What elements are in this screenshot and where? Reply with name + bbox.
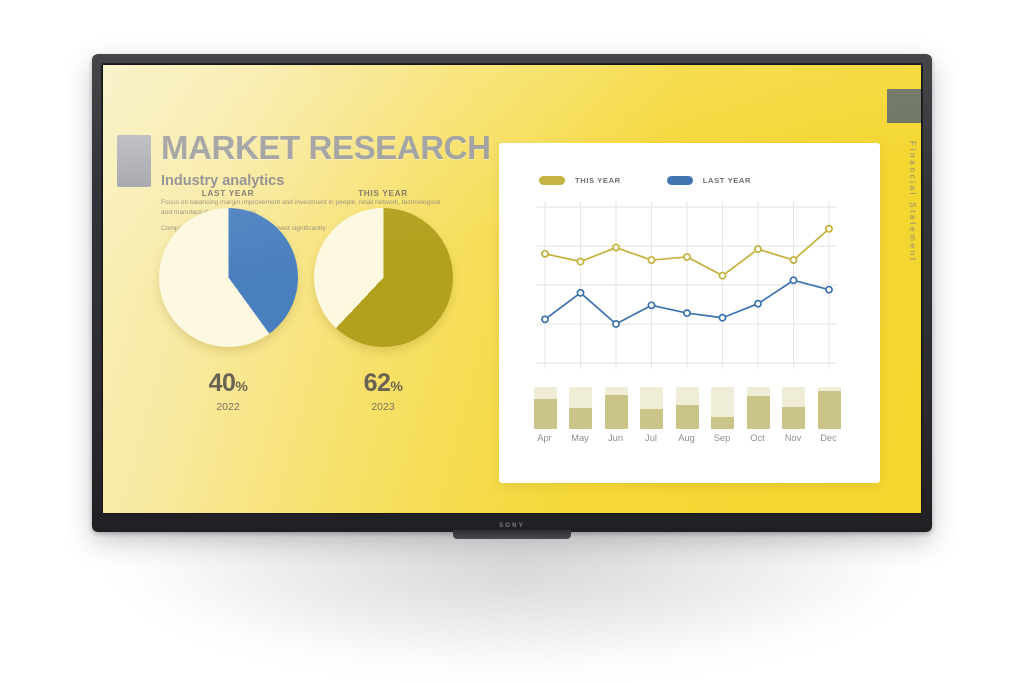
pie-chart-last-year [159, 208, 298, 347]
bar-track [711, 387, 734, 429]
bar-track [747, 387, 770, 429]
bar-track [818, 387, 841, 429]
bar-track [569, 387, 592, 429]
data-point [542, 251, 548, 257]
monitor-stand-neck [453, 530, 571, 539]
bar-track [605, 387, 628, 429]
data-point [790, 277, 796, 283]
bar-track [782, 387, 805, 429]
bar-fill [747, 396, 770, 429]
device-brand: SONY [92, 523, 932, 529]
legend-swatch-icon [539, 176, 565, 185]
legend-item-1[interactable]: THIS YEAR [539, 176, 621, 185]
data-point [790, 257, 796, 263]
data-point [613, 244, 619, 250]
x-axis-label: Dec [812, 433, 846, 443]
chart-card: THIS YEARLAST YEAR AprMayJunJulAugSepOct… [499, 143, 880, 483]
data-point [755, 301, 761, 307]
percent-symbol: % [235, 378, 247, 394]
pie-year-this-year: 2023 [308, 401, 458, 413]
floor-shadow [120, 520, 910, 670]
pie-block-last-year: LAST YEAR 40% 2022 [153, 189, 303, 413]
line-chart-plot [537, 201, 837, 369]
data-point [755, 246, 761, 252]
pie-percent-this-year: 62% [308, 369, 458, 398]
x-axis-label: Nov [776, 433, 810, 443]
x-axis-label: Sep [705, 433, 739, 443]
bar-fill [818, 391, 841, 429]
pie-percent-last-year: 40% [153, 369, 303, 398]
data-point [826, 287, 832, 293]
data-point [648, 257, 654, 263]
x-axis-labels: AprMayJunJulAugSepOctNovDec [537, 433, 837, 451]
pie-percent-value: 62 [364, 369, 391, 397]
legend-swatch-icon [667, 176, 693, 185]
rail-label: Financial Statement [895, 141, 917, 263]
legend-label: LAST YEAR [703, 176, 751, 185]
pie-caption-last-year: LAST YEAR [153, 189, 303, 198]
data-point [613, 321, 619, 327]
x-axis-label: Oct [741, 433, 775, 443]
pie-chart-group: LAST YEAR 40% 2022 THIS YEAR 62% 2023 [153, 189, 483, 479]
bar-fill [640, 409, 663, 429]
pie-percent-value: 40 [209, 369, 236, 397]
chart-legend: THIS YEARLAST YEAR [539, 176, 751, 185]
presentation-slide: MARKET RESEARCH Industry analytics Focus… [103, 65, 921, 513]
bar-fill [534, 399, 557, 429]
percent-symbol: % [390, 378, 402, 394]
data-point [577, 259, 583, 265]
x-axis-label: Jul [634, 433, 668, 443]
bar-track [676, 387, 699, 429]
legend-label: THIS YEAR [575, 176, 621, 185]
data-point [719, 315, 725, 321]
monitor-screen: MARKET RESEARCH Industry analytics Focus… [103, 65, 921, 513]
rail-accent-box [887, 89, 921, 123]
pie-caption-this-year: THIS YEAR [308, 189, 458, 198]
bar-strip [537, 379, 837, 429]
monitor-frame: MARKET RESEARCH Industry analytics Focus… [92, 54, 932, 532]
bar-track [534, 387, 557, 429]
data-point [684, 310, 690, 316]
x-axis-label: Aug [670, 433, 704, 443]
title-accent-square [117, 135, 151, 187]
data-point [577, 290, 583, 296]
pie-chart-this-year [314, 208, 453, 347]
pie-year-last-year: 2022 [153, 401, 303, 413]
data-point [684, 254, 690, 260]
data-point [826, 226, 832, 232]
bar-fill [711, 417, 734, 429]
pie-block-this-year: THIS YEAR 62% 2023 [308, 189, 458, 413]
legend-item-2[interactable]: LAST YEAR [667, 176, 751, 185]
line-chart-svg [537, 201, 837, 369]
bar-fill [782, 407, 805, 429]
x-axis-label: May [563, 433, 597, 443]
x-axis-label: Jun [599, 433, 633, 443]
bar-fill [605, 395, 628, 429]
bar-fill [569, 408, 592, 429]
data-point [719, 273, 725, 279]
data-point [648, 302, 654, 308]
bar-fill [676, 405, 699, 429]
data-point [542, 316, 548, 322]
x-axis-label: Apr [528, 433, 562, 443]
bar-track [640, 387, 663, 429]
